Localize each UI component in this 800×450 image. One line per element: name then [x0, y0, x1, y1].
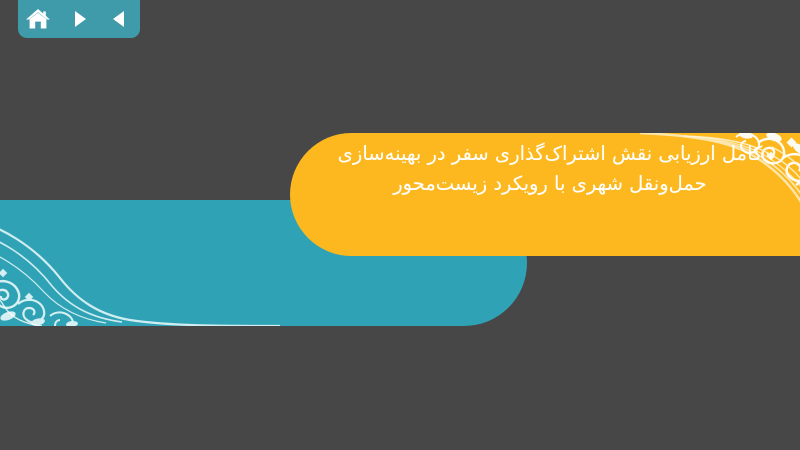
previous-button[interactable]: ◀ — [107, 6, 133, 32]
triangle-right-icon — [68, 8, 90, 30]
navigation-bar: ◀ ▶ ⌂ — [18, 0, 140, 38]
slide-canvas: ◀ ▶ ⌂ — [0, 0, 800, 450]
next-button[interactable]: ▶ — [66, 6, 92, 32]
triangle-left-icon — [109, 8, 131, 30]
home-icon — [25, 7, 51, 31]
teal-bar-arabesque-ornament — [0, 200, 280, 326]
page-title: کامل ارزیابی نقش اشتراک‌گذاری سفر در بهی… — [300, 139, 800, 199]
home-button[interactable]: ⌂ — [25, 6, 51, 32]
